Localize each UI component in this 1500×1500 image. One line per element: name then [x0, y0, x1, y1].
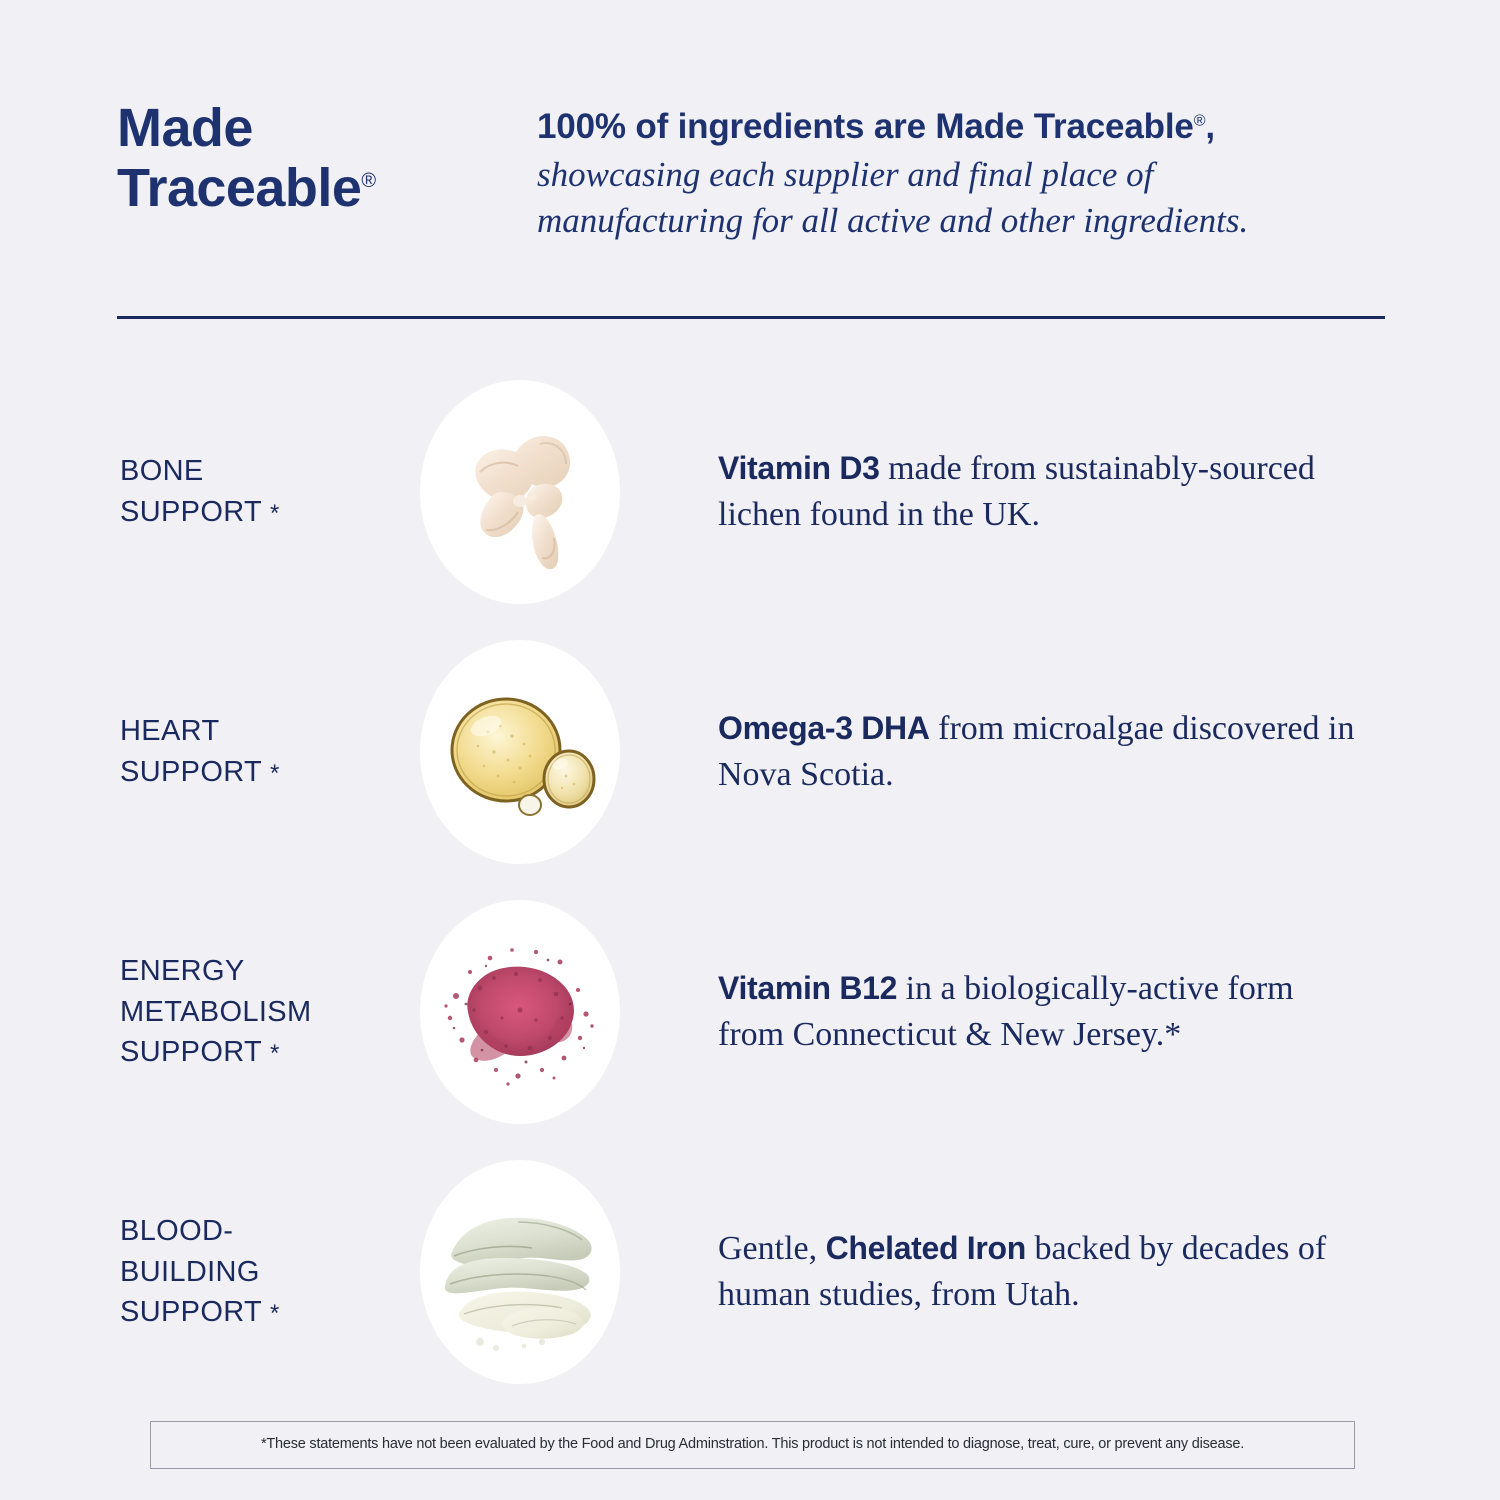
oil-droplets-graphic [420, 640, 620, 864]
label-line: SUPPORT * [120, 752, 420, 793]
registered-trademark-icon: ® [361, 170, 375, 192]
header-lead-line: 100% of ingredients are Made Traceable®, [537, 104, 1385, 150]
header-copy: 100% of ingredients are Made Traceable®,… [537, 96, 1385, 245]
benefit-row: ENERGY METABOLISM SUPPORT * [0, 882, 1500, 1142]
benefit-media-heart [420, 640, 620, 864]
benefit-media-energy [420, 900, 620, 1124]
label-line: SUPPORT * [120, 1292, 420, 1333]
header-lead-text: 100% of ingredients are Made Traceable [537, 107, 1194, 146]
ingredient-prefix: Gentle, [718, 1230, 826, 1267]
header: Made Traceable® 100% of ingredients are … [117, 96, 1385, 245]
disclaimer-box: *These statements have not been evaluate… [150, 1421, 1355, 1469]
benefit-label-blood: BLOOD- BUILDING SUPPORT * [120, 1211, 420, 1333]
benefit-rows: BONE SUPPORT * [0, 362, 1500, 1402]
header-subtext-line-1: showcasing each supplier and final place… [537, 152, 1385, 199]
ingredient-name: Chelated Iron [826, 1230, 1026, 1266]
header-divider [117, 316, 1385, 319]
asterisk-marker: * [270, 760, 280, 787]
disclaimer-text: *These statements have not been evaluate… [261, 1436, 1244, 1453]
asterisk-marker: * [270, 1300, 280, 1327]
benefit-row: BONE SUPPORT * [0, 362, 1500, 622]
registered-trademark-icon: ® [1194, 112, 1206, 129]
benefit-description-blood: Gentle, Chelated Iron backed by decades … [718, 1226, 1358, 1318]
pink-powder-image [420, 900, 620, 1124]
infographic-page: Made Traceable® 100% of ingredients are … [0, 0, 1500, 1500]
benefit-label-heart: HEART SUPPORT * [120, 711, 420, 792]
benefit-label-energy: ENERGY METABOLISM SUPPORT * [120, 951, 420, 1073]
label-line: SUPPORT * [120, 1032, 420, 1073]
asterisk-marker: * [270, 500, 280, 527]
green-cream-swatch-graphic [420, 1160, 620, 1384]
green-cream-swatch-image [420, 1160, 620, 1384]
benefit-media-blood [420, 1160, 620, 1384]
benefit-description-energy: Vitamin B12 in a biologically-active for… [718, 966, 1358, 1058]
label-line: BUILDING [120, 1252, 420, 1293]
benefit-label-bone: BONE SUPPORT * [120, 451, 420, 532]
header-subtext: showcasing each supplier and final place… [537, 152, 1385, 245]
ingredient-name: Vitamin B12 [718, 970, 897, 1006]
cream-swatch-graphic [420, 380, 620, 604]
benefit-description-bone: Vitamin D3 made from sustainably-sourced… [718, 446, 1358, 538]
benefit-row: BLOOD- BUILDING SUPPORT * [0, 1142, 1500, 1402]
header-subtext-line-2: manufacturing for all active and other i… [537, 198, 1385, 245]
ingredient-name: Omega-3 DHA [718, 710, 930, 746]
oil-droplets-image [420, 640, 620, 864]
brand-line-2: Traceable® [117, 158, 537, 218]
label-line-text: SUPPORT [120, 1296, 262, 1328]
label-line: ENERGY [120, 951, 420, 992]
label-line-text: SUPPORT [120, 496, 262, 528]
benefit-description-heart: Omega-3 DHA from microalgae discovered i… [718, 706, 1358, 798]
label-line: HEART [120, 711, 420, 752]
pink-powder-graphic [420, 900, 620, 1124]
label-line-text: SUPPORT [120, 756, 262, 788]
label-line-text: SUPPORT [120, 1036, 262, 1068]
asterisk-marker: * [270, 1040, 280, 1067]
benefit-row: HEART SUPPORT * [0, 622, 1500, 882]
brand-line-1: Made [117, 98, 537, 158]
ingredient-name: Vitamin D3 [718, 450, 880, 486]
header-lead-comma: , [1205, 107, 1215, 146]
cream-swatch-image [420, 380, 620, 604]
label-line: BONE [120, 451, 420, 492]
label-line: BLOOD- [120, 1211, 420, 1252]
brand-lockup: Made Traceable® [117, 96, 537, 219]
label-line: SUPPORT * [120, 492, 420, 533]
label-line: METABOLISM [120, 992, 420, 1033]
benefit-media-bone [420, 380, 620, 604]
brand-line-2-text: Traceable [117, 158, 361, 218]
